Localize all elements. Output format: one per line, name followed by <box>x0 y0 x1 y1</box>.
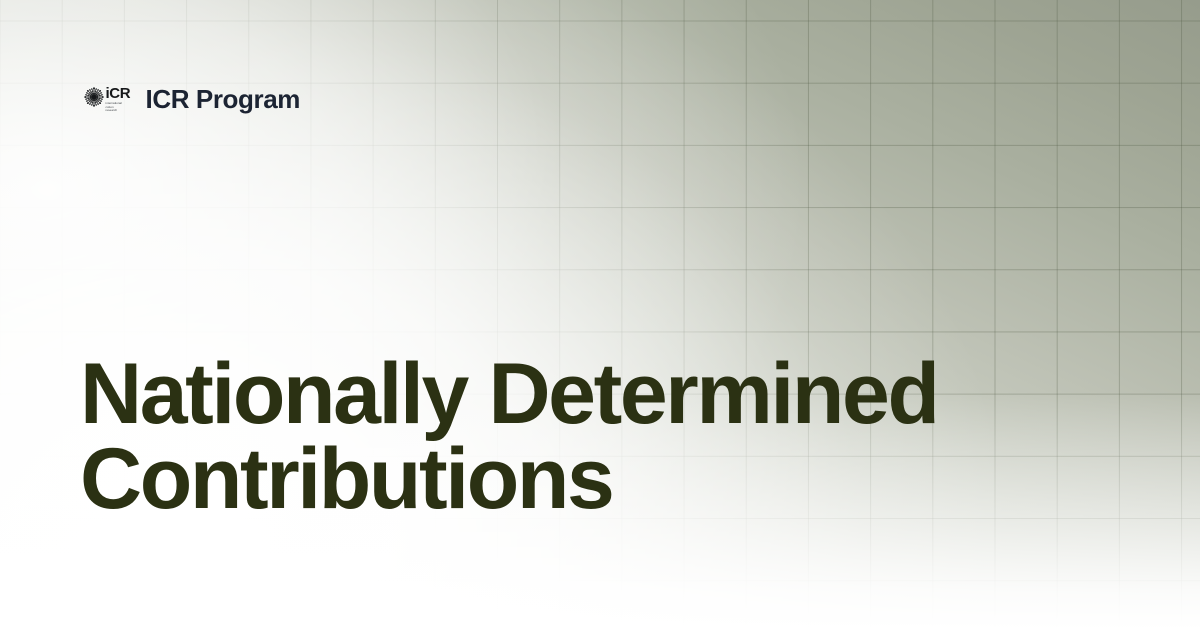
icr-logo: iCR international cotton research <box>84 86 132 113</box>
social-share-card: iCR international cotton research ICR Pr… <box>0 0 1200 630</box>
page-title-line-1: Nationally Determined <box>80 352 1120 437</box>
icr-logo-subtext: international cotton research <box>106 102 132 113</box>
page-title-line-2: Contributions <box>80 437 1120 522</box>
icr-wordmark-block: iCR international cotton research <box>106 86 132 113</box>
brand-label: ICR Program <box>146 84 301 115</box>
icr-starburst-emblem <box>84 87 104 107</box>
icr-wordmark: iCR <box>106 86 131 101</box>
brand-lockup[interactable]: iCR international cotton research ICR Pr… <box>84 84 300 115</box>
page-title: Nationally Determined Contributions <box>80 352 1120 522</box>
